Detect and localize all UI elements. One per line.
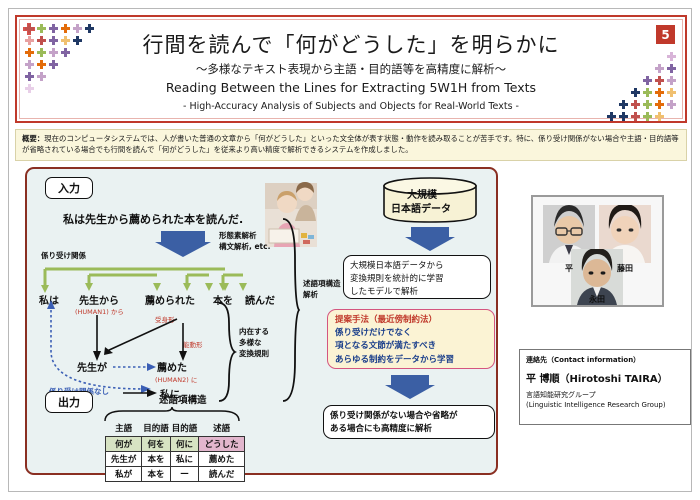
pas-title: 述語項構造 <box>159 395 207 408</box>
slide-header: 行間を読んで「何がどうした」を明らかに ～多様なテキスト表現から主語・目的語等を… <box>15 15 687 123</box>
author-name-1: 藤田 <box>599 263 651 274</box>
inner-rules-line2: 多様な <box>239 338 262 348</box>
no-dependency-dotted-arc <box>37 299 187 399</box>
author-name-2: 永田 <box>571 294 623 305</box>
database-label-line1: 大規模 <box>407 189 437 203</box>
result-line1: 係り受け関係がない場合や省略が <box>330 410 488 423</box>
proposed-method-line1: 係り受けだけでなく <box>335 327 487 340</box>
no-dependency-arrow <box>123 387 159 399</box>
proposed-method-line2: 項となる文節が満たすべき <box>335 340 487 353</box>
morphological-analysis-arrow-icon <box>155 231 211 257</box>
contact-name: 平 博順（Hirotoshi TAIRA） <box>526 370 684 385</box>
slide-root: 行間を読んで「何がどうした」を明らかに ～多様なテキスト表現から主語・目的語等を… <box>8 8 692 492</box>
result-box: 係り受け関係がない場合や省略が ある場合にも高精度に解析 <box>323 405 495 439</box>
input-sentence: 私は先生から薦められた本を読んだ. <box>63 211 243 227</box>
main-diagram-panel: 入力 私は先生から薦められた本を読んだ. 形態素解析 構文解析, etc. 係り… <box>25 167 498 475</box>
proposed-method-box: 提案手法（最近傍制約法） 係り受けだけでなく 項となる文節が満たすべき あらゆる… <box>327 309 495 369</box>
cell-1-0: 先生が <box>106 452 142 467</box>
author-name-0: 平 <box>543 263 595 274</box>
derived-link-arrow <box>113 361 159 373</box>
col-header-1: 目的語 <box>142 421 170 437</box>
table-row: 先生が 本を 私に 薦めた <box>106 452 245 467</box>
contact-label: 連絡先（Contact information） <box>526 355 684 365</box>
model-callout-line1: 大規模日本語データから <box>350 260 484 273</box>
cell-1-3: 薦めた <box>199 452 245 467</box>
contact-group-jp: 言語知能研究グループ <box>526 390 684 400</box>
output-section-label: 出力 <box>45 391 93 413</box>
cell-1-1: 本を <box>142 452 170 467</box>
dependency-relation-label: 係り受け関係 <box>41 251 86 261</box>
abstract-label: 概要： <box>22 134 44 143</box>
page-number-badge: 5 <box>656 25 675 44</box>
model-callout-line3: したモデルで解析 <box>350 286 484 299</box>
pas-analysis-label-line2: 解析 <box>303 290 318 300</box>
cell-0-1: 何を <box>142 437 170 452</box>
chunk-4: 読んだ <box>245 292 275 307</box>
cell-2-1: 本を <box>142 467 170 482</box>
input-section-label: 入力 <box>45 177 93 199</box>
pas-analysis-label-line1: 述語項構造 <box>303 279 341 289</box>
contact-group-en: (Linguistic Intelligence Research Group) <box>526 400 684 410</box>
database-label-line2: 日本語データ <box>391 203 451 217</box>
model-callout-line2: 変換規則を統計的に学習 <box>350 273 484 286</box>
output-table: 主語 目的語 目的語 述語 何が 何を 何に どうした 先生が 本を 私に 薦め <box>105 421 245 482</box>
abstract-box: 概要：現在のコンピュータシステムでは、人が書いた普通の文章から「何がどうした」と… <box>15 129 687 161</box>
cell-0-3: どうした <box>199 437 245 452</box>
cell-2-2: — <box>170 467 198 482</box>
cell-0-2: 何に <box>170 437 198 452</box>
subtitle-english: Reading Between the Lines for Extracting… <box>17 80 685 95</box>
contact-information-box: 連絡先（Contact information） 平 博順（Hirotoshi … <box>519 349 691 425</box>
inner-rules-line1: 内在する <box>239 327 269 337</box>
authors-photo-panel: 平 藤田 永田 <box>531 195 664 307</box>
inner-rules-brace <box>215 303 237 401</box>
page-title: 行間を読んで「何がどうした」を明らかに <box>17 29 685 59</box>
result-line2: ある場合にも高精度に解析 <box>330 423 488 436</box>
inner-rules-line3: 変換規則 <box>239 349 269 359</box>
subtitle-japanese: ～多様なテキスト表現から主語・目的語等を高精度に解析～ <box>17 61 685 77</box>
proposed-method-line3: あらゆる制約をデータから学習 <box>335 354 487 367</box>
dependency-arcs <box>37 263 277 293</box>
model-callout-box: 大規模日本語データから 変換規則を統計的に学習 したモデルで解析 <box>343 255 491 299</box>
col-header-2: 目的語 <box>170 421 198 437</box>
subtitle-english-secondary: - High-Accuracy Analysis of Subjects and… <box>17 101 685 112</box>
method-to-result-arrow-icon <box>385 375 435 399</box>
database-to-model-arrow-icon <box>405 227 455 251</box>
cell-2-3: 読んだ <box>199 467 245 482</box>
analysis-note-line2: 構文解析, etc. <box>219 242 270 252</box>
cell-2-0: 私が <box>106 467 142 482</box>
table-row: 私が 本を — 読んだ <box>106 467 245 482</box>
analysis-note-line1: 形態素解析 <box>219 231 257 241</box>
proposed-method-title: 提案手法（最近傍制約法） <box>335 314 487 327</box>
pas-analysis-brace <box>279 219 299 401</box>
col-header-3: 述語 <box>199 421 245 437</box>
table-top-brace <box>103 409 241 421</box>
table-row: 何が 何を 何に どうした <box>106 437 245 452</box>
col-header-0: 主語 <box>106 421 142 437</box>
abstract-text: 現在のコンピュータシステムでは、人が書いた普通の文章から「何がどうした」といった… <box>22 134 679 154</box>
cell-1-2: 私に <box>170 452 198 467</box>
cell-0-0: 何が <box>106 437 142 452</box>
table-header-row: 主語 目的語 目的語 述語 <box>106 421 245 437</box>
